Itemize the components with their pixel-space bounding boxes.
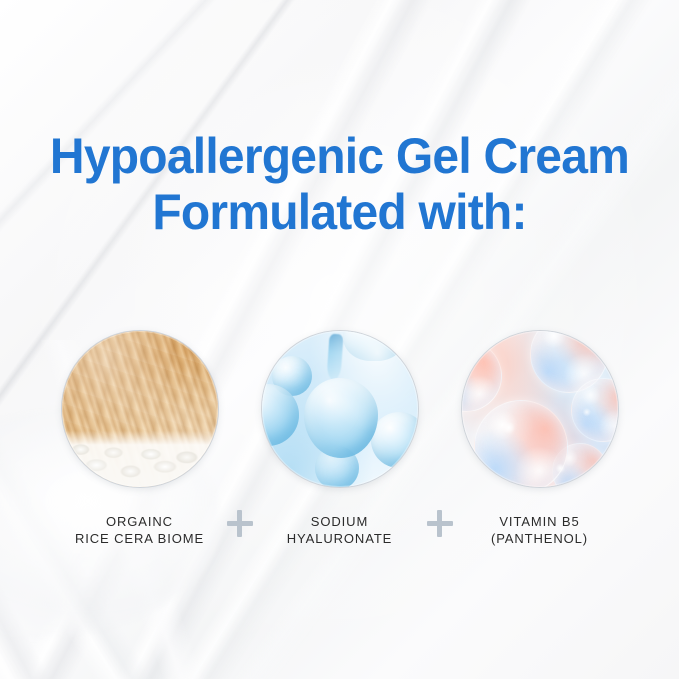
rice-highlight — [62, 331, 218, 487]
ingredient-image-hyaluronate — [261, 330, 419, 488]
plus-icon — [220, 510, 260, 536]
gel-droplet-icon — [262, 331, 418, 487]
ingredient-list: ORGAINC RICE CERA BIOME — [0, 330, 679, 547]
ingredient-label-vitamin-b5: VITAMIN B5 (PANTHENOL) — [491, 513, 588, 547]
ingredient-label-hyaluronate-line-2: HYALURONATE — [287, 530, 393, 547]
headline-line-1: Hypoallergenic Gel Cream — [14, 128, 666, 184]
ingredient-label-rice-line-2: RICE CERA BIOME — [75, 530, 204, 547]
ingredient-label-vitamin-b5-line-2: (PANTHENOL) — [491, 530, 588, 547]
ingredient-label-rice: ORGAINC RICE CERA BIOME — [75, 513, 204, 547]
rice-grains-icon — [62, 331, 218, 487]
ingredient-item-vitamin-b5: VITAMIN B5 (PANTHENOL) — [460, 330, 620, 547]
product-ingredient-infographic: Hypoallergenic Gel Cream Formulated with… — [0, 0, 679, 679]
ingredient-item-rice: ORGAINC RICE CERA BIOME — [60, 330, 220, 547]
ingredient-label-hyaluronate: SODIUM HYALURONATE — [287, 513, 393, 547]
ingredient-image-rice — [61, 330, 219, 488]
ingredient-image-vitamin-b5 — [461, 330, 619, 488]
ingredient-label-vitamin-b5-line-1: VITAMIN B5 — [499, 514, 579, 529]
headline-line-2: Formulated with: — [14, 184, 666, 240]
gel-highlight — [262, 331, 418, 487]
plus-icon — [420, 510, 460, 536]
bubble-sparkles — [462, 331, 618, 487]
ingredient-label-hyaluronate-line-1: SODIUM — [311, 514, 368, 529]
ingredient-label-rice-line-1: ORGAINC — [106, 514, 173, 529]
page-title: Hypoallergenic Gel Cream Formulated with… — [0, 128, 679, 240]
ingredient-item-hyaluronate: SODIUM HYALURONATE — [260, 330, 420, 547]
iridescent-bubbles-icon — [462, 331, 618, 487]
